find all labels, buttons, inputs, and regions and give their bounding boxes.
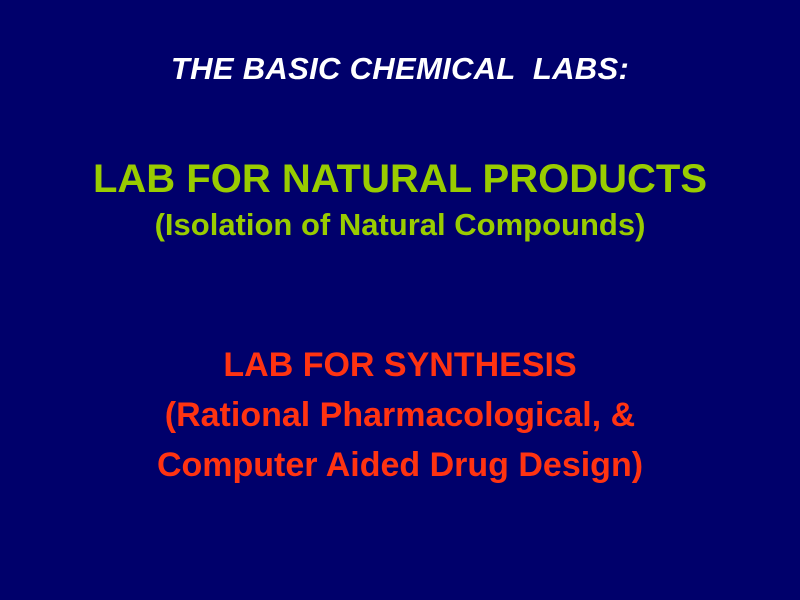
natural-products-heading: LAB FOR NATURAL PRODUCTS (0, 155, 800, 203)
presentation-slide: THE BASIC CHEMICAL LABS: LAB FOR NATURAL… (0, 0, 800, 600)
synthesis-subheading-line-1: (Rational Pharmacological, & (0, 390, 800, 440)
section-natural-products: LAB FOR NATURAL PRODUCTS (Isolation of N… (0, 155, 800, 247)
synthesis-heading: LAB FOR SYNTHESIS (0, 340, 800, 390)
natural-products-subheading: (Isolation of Natural Compounds) (0, 203, 800, 247)
page-title: THE BASIC CHEMICAL LABS: (0, 50, 800, 88)
section-synthesis: LAB FOR SYNTHESIS (Rational Pharmacologi… (0, 340, 800, 490)
synthesis-subheading-line-2: Computer Aided Drug Design) (0, 440, 800, 490)
